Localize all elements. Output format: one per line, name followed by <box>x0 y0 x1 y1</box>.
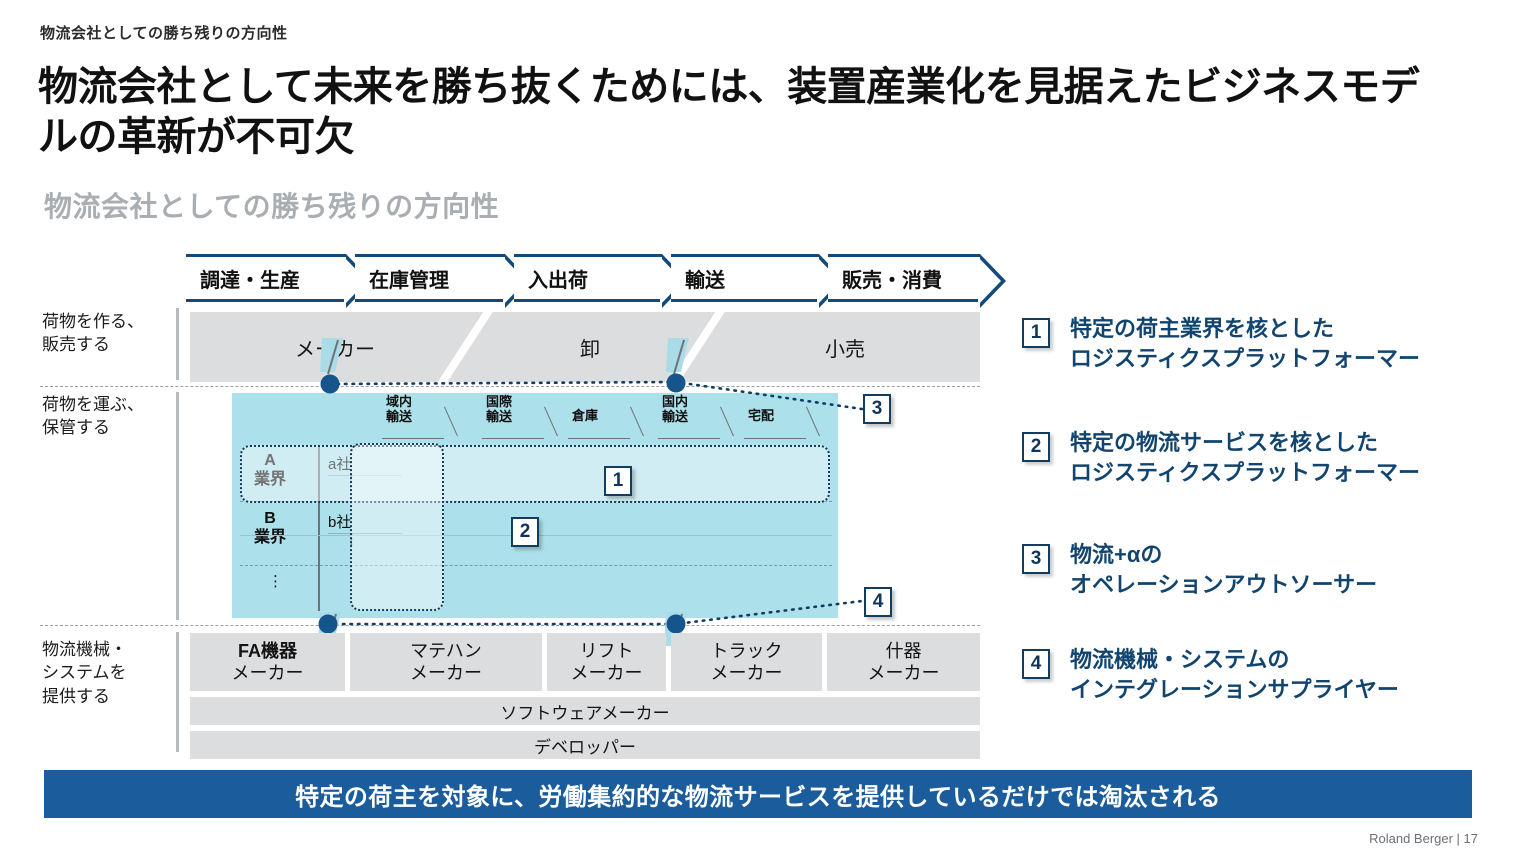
matrix-col-rule-4 <box>658 438 720 439</box>
chevron-label: 輸送 <box>685 264 725 293</box>
slide-footer: Roland Berger | 17 <box>1369 831 1478 846</box>
chevron-label: 調達・生産 <box>200 264 300 293</box>
logistics-matrix: 域内 輸送 国際 輸送 倉庫 国内 輸送 宅配 A 業界 a社 <box>232 393 838 618</box>
supplier-box-material-handling[interactable]: マテハン メーカー <box>350 633 542 691</box>
legend-item-3[interactable]: 3 物流+αの オペレーションアウトソーサー <box>1022 540 1492 600</box>
row-label-line2: システムを <box>42 661 182 684</box>
legend-item-1[interactable]: 1 特定の荷主業界を核とした ロジスティクスプラットフォーマー <box>1022 314 1492 374</box>
process-chevron-row: 調達・生産 在庫管理 入出荷 輸送 販売・消費 <box>186 254 989 302</box>
band-cell-maker: メーカー <box>220 312 450 382</box>
supplier-line2: メーカー <box>571 662 643 685</box>
supplier-box-lift[interactable]: リフト メーカー <box>547 633 666 691</box>
legend-badge-1: 1 <box>1022 318 1050 348</box>
supplier-band-developer[interactable]: デベロッパー <box>190 731 980 759</box>
legend-text-1: 特定の荷主業界を核とした ロジスティクスプラットフォーマー <box>1070 314 1492 374</box>
chevron-step-3[interactable]: 入出荷 <box>514 254 662 302</box>
row-label-line1: 荷物を運ぶ、 <box>42 393 182 416</box>
matrix-row-divider-2 <box>240 565 832 566</box>
row-label-line1: 荷物を作る、 <box>42 310 182 333</box>
matrix-col-parcel: 宅配 <box>748 409 804 424</box>
supplier-line1: FA機器 <box>238 640 297 663</box>
matrix-col-slash-5 <box>806 407 820 437</box>
slide-eyebrow: 物流会社としての勝ち残りの方向性 <box>40 22 288 43</box>
supplier-band-software[interactable]: ソフトウェアメーカー <box>190 697 980 725</box>
chevron-label: 在庫管理 <box>369 264 449 293</box>
highlight-region-service-platform[interactable] <box>350 443 444 611</box>
legend-item-4[interactable]: 4 物流機械・システムの インテグレーションサプライヤー <box>1022 645 1492 705</box>
legend-line1: 特定の物流サービスを核とした <box>1070 428 1492 458</box>
legend-line1: 物流+αの <box>1070 540 1492 570</box>
matrix-col-warehouse: 倉庫 <box>572 409 628 424</box>
legend-line2: ロジスティクスプラットフォーマー <box>1070 344 1492 374</box>
matrix-col-domestic-area: 域内 輸送 <box>386 395 438 424</box>
page-title: 物流会社として未来を勝ち抜くためには、装置産業化を見据えたビジネスモデルの革新が… <box>38 62 1458 162</box>
legend-item-2[interactable]: 2 特定の物流サービスを核とした ロジスティクスプラットフォーマー <box>1022 428 1492 488</box>
legend-line2: ロジスティクスプラットフォーマー <box>1070 458 1492 488</box>
matrix-col-slash-4 <box>720 407 734 437</box>
legend-badge-2: 2 <box>1022 432 1050 462</box>
supplier-line2: メーカー <box>868 662 940 685</box>
row-divider-rule-3 <box>176 632 179 752</box>
row-label-line2: 販売する <box>42 333 182 356</box>
slide-subtitle: 物流会社としての勝ち残りの方向性 <box>44 185 499 225</box>
row-label-line1: 物流機械・ <box>42 638 182 661</box>
chevron-step-5[interactable]: 販売・消費 <box>828 254 980 302</box>
legend-badge-3: 3 <box>1022 544 1050 574</box>
supplier-box-fa[interactable]: FA機器 メーカー <box>190 633 345 691</box>
matrix-col-rule-3 <box>568 438 630 439</box>
matrix-col-rule-1 <box>382 438 444 439</box>
matrix-industry-more: ⋮ <box>268 579 283 584</box>
chevron-label: 入出荷 <box>528 264 588 293</box>
matrix-col-slash-2 <box>544 407 558 437</box>
legend-text-3: 物流+αの オペレーションアウトソーサー <box>1070 540 1492 600</box>
legend-line1: 特定の荷主業界を核とした <box>1070 314 1492 344</box>
supplier-box-truck[interactable]: トラック メーカー <box>671 633 822 691</box>
matrix-col-rule-5 <box>744 438 806 439</box>
row-label-provide-equipment: 物流機械・ システムを 提供する <box>42 638 182 708</box>
matrix-col-domestic: 国内 輸送 <box>662 395 714 424</box>
chevron-step-2[interactable]: 在庫管理 <box>355 254 505 302</box>
row-label-make-sell: 荷物を作る、 販売する <box>42 310 182 357</box>
legend-text-4: 物流機械・システムの インテグレーションサプライヤー <box>1070 645 1492 705</box>
highlight-region-industry-platform[interactable] <box>240 445 830 503</box>
row-label-transport-store: 荷物を運ぶ、 保管する <box>42 393 182 440</box>
matrix-col-rule-2 <box>482 438 544 439</box>
matrix-col-slash-3 <box>630 407 644 437</box>
legend-line2: オペレーションアウトソーサー <box>1070 570 1492 600</box>
row-label-line3: 提供する <box>42 685 182 708</box>
value-chain-band: メーカー 卸 小売 <box>190 312 980 382</box>
marker-2[interactable]: 2 <box>511 517 539 547</box>
conclusion-banner: 特定の荷主を対象に、労働集約的な物流サービスを提供しているだけでは淘汰される <box>44 770 1472 818</box>
chevron-step-1[interactable]: 調達・生産 <box>186 254 346 302</box>
matrix-col-slash-1 <box>444 407 458 437</box>
marker-3[interactable]: 3 <box>863 394 891 424</box>
supplier-line2: メーカー <box>232 662 304 685</box>
marker-4[interactable]: 4 <box>864 587 892 617</box>
matrix-industry-b: B 業界 <box>242 509 298 547</box>
row-divider-rule-1 <box>176 308 179 380</box>
matrix-company-b: b社 <box>328 511 351 532</box>
band-cell-wholesale: 卸 <box>490 312 690 382</box>
legend-text-2: 特定の物流サービスを核とした ロジスティクスプラットフォーマー <box>1070 428 1492 488</box>
supplier-line2: メーカー <box>410 662 482 685</box>
marker-1[interactable]: 1 <box>604 466 632 496</box>
legend-badge-4: 4 <box>1022 649 1050 679</box>
supplier-box-fixtures[interactable]: 什器 メーカー <box>827 633 980 691</box>
supplier-line1: リフト <box>580 640 634 663</box>
row-divider-rule-2 <box>176 392 179 620</box>
supplier-line1: 什器 <box>886 640 922 663</box>
horizontal-dashed-divider-2 <box>40 625 980 626</box>
supplier-line1: マテハン <box>410 640 482 663</box>
legend-line1: 物流機械・システムの <box>1070 645 1492 675</box>
supplier-line1: トラック <box>711 640 783 663</box>
supplier-line2: メーカー <box>711 662 783 685</box>
chevron-step-4[interactable]: 輸送 <box>671 254 819 302</box>
row-label-line2: 保管する <box>42 416 182 439</box>
chevron-label: 販売・消費 <box>842 264 942 293</box>
legend-line2: インテグレーションサプライヤー <box>1070 675 1492 705</box>
matrix-col-international: 国際 輸送 <box>486 395 538 424</box>
band-cell-retail: 小売 <box>740 312 950 382</box>
horizontal-dashed-divider-1 <box>40 386 980 387</box>
matrix-column-headers: 域内 輸送 国際 輸送 倉庫 国内 輸送 宅配 <box>232 393 838 443</box>
